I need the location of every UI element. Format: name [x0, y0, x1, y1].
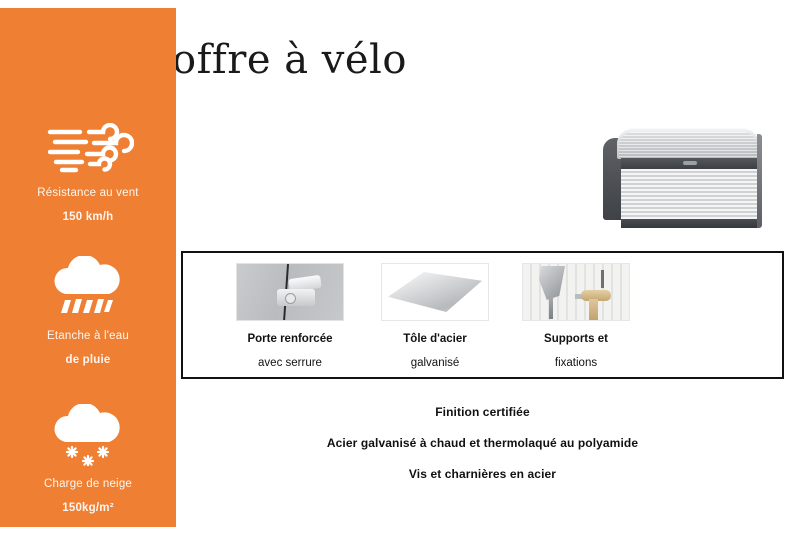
product-handle	[683, 161, 697, 165]
feature-cell-fixings-caption: Supports et fixations	[501, 333, 651, 369]
certification-line-3: Vis et charnières en acier	[181, 467, 784, 481]
spade-handle	[549, 297, 553, 319]
product-upper-band	[621, 158, 759, 169]
spade-icon	[539, 266, 565, 300]
sidebar-feature-wind-value: 150 km/h	[0, 211, 176, 223]
certification-block: Finition certifiée Acier galvanisé à cha…	[181, 405, 784, 498]
sidebar-feature-rain-value: de pluie	[0, 354, 176, 366]
product-lid-ribs	[619, 132, 757, 158]
wind-icon	[0, 113, 176, 175]
product-body-ribs	[621, 169, 759, 221]
feature-cell-steel-sheet: Tôle d'acier galvanisé	[360, 253, 510, 377]
product-right-edge	[757, 134, 762, 228]
steel-plate	[388, 272, 482, 312]
sidebar-feature-wind: Résistance au vent 150 km/h	[0, 113, 176, 223]
sidebar-feature-wind-label: Résistance au vent	[0, 187, 176, 199]
feature-cell-fixings: Supports et fixations	[501, 253, 651, 377]
door-lock-photo	[236, 263, 344, 321]
rain-cloud-icon	[0, 256, 176, 318]
lock-body	[277, 289, 315, 306]
product-base-band	[621, 219, 759, 228]
feature-caption-line2: avec serrure	[215, 357, 365, 369]
feature-cell-steel-sheet-caption: Tôle d'acier galvanisé	[360, 333, 510, 369]
feature-caption-line1: Tôle d'acier	[403, 333, 466, 345]
feature-caption-line1: Porte renforcée	[247, 333, 332, 345]
page-title: offre à vélo	[172, 38, 407, 82]
feature-cell-door-lock-caption: Porte renforcée avec serrure	[215, 333, 365, 369]
brackets-and-fixings-photo	[522, 263, 630, 321]
sidebar: Résistance au vent 150 km/h Etanche à l'…	[0, 8, 176, 527]
feature-caption-line2: fixations	[501, 357, 651, 369]
feature-caption-line1: Supports et	[544, 333, 608, 345]
sidebar-feature-snow-label: Charge de neige	[0, 478, 176, 490]
lock-keyhole	[285, 293, 296, 304]
feature-cell-door-lock: Porte renforcée avec serrure	[215, 253, 365, 377]
galvanised-steel-sheet-photo	[381, 263, 489, 321]
sidebar-feature-rain: Etanche à l'eau de pluie	[0, 256, 176, 366]
page-root: Résistance au vent 150 km/h Etanche à l'…	[0, 0, 800, 534]
hammer-handle	[589, 299, 598, 321]
sidebar-feature-rain-label: Etanche à l'eau	[0, 330, 176, 342]
snow-cloud-icon	[0, 404, 176, 466]
sidebar-feature-snow: Charge de neige 150kg/m²	[0, 404, 176, 514]
feature-caption-line2: galvanisé	[360, 357, 510, 369]
certification-line-2: Acier galvanisé à chaud et thermolaqué a…	[181, 436, 784, 450]
certification-line-1: Finition certifiée	[181, 405, 784, 419]
bike-storage-box-photo	[603, 118, 759, 230]
feature-box: Porte renforcée avec serrure Tôle d'acie…	[181, 251, 784, 379]
nail-icon	[601, 270, 604, 288]
sidebar-feature-snow-value: 150kg/m²	[0, 502, 176, 514]
